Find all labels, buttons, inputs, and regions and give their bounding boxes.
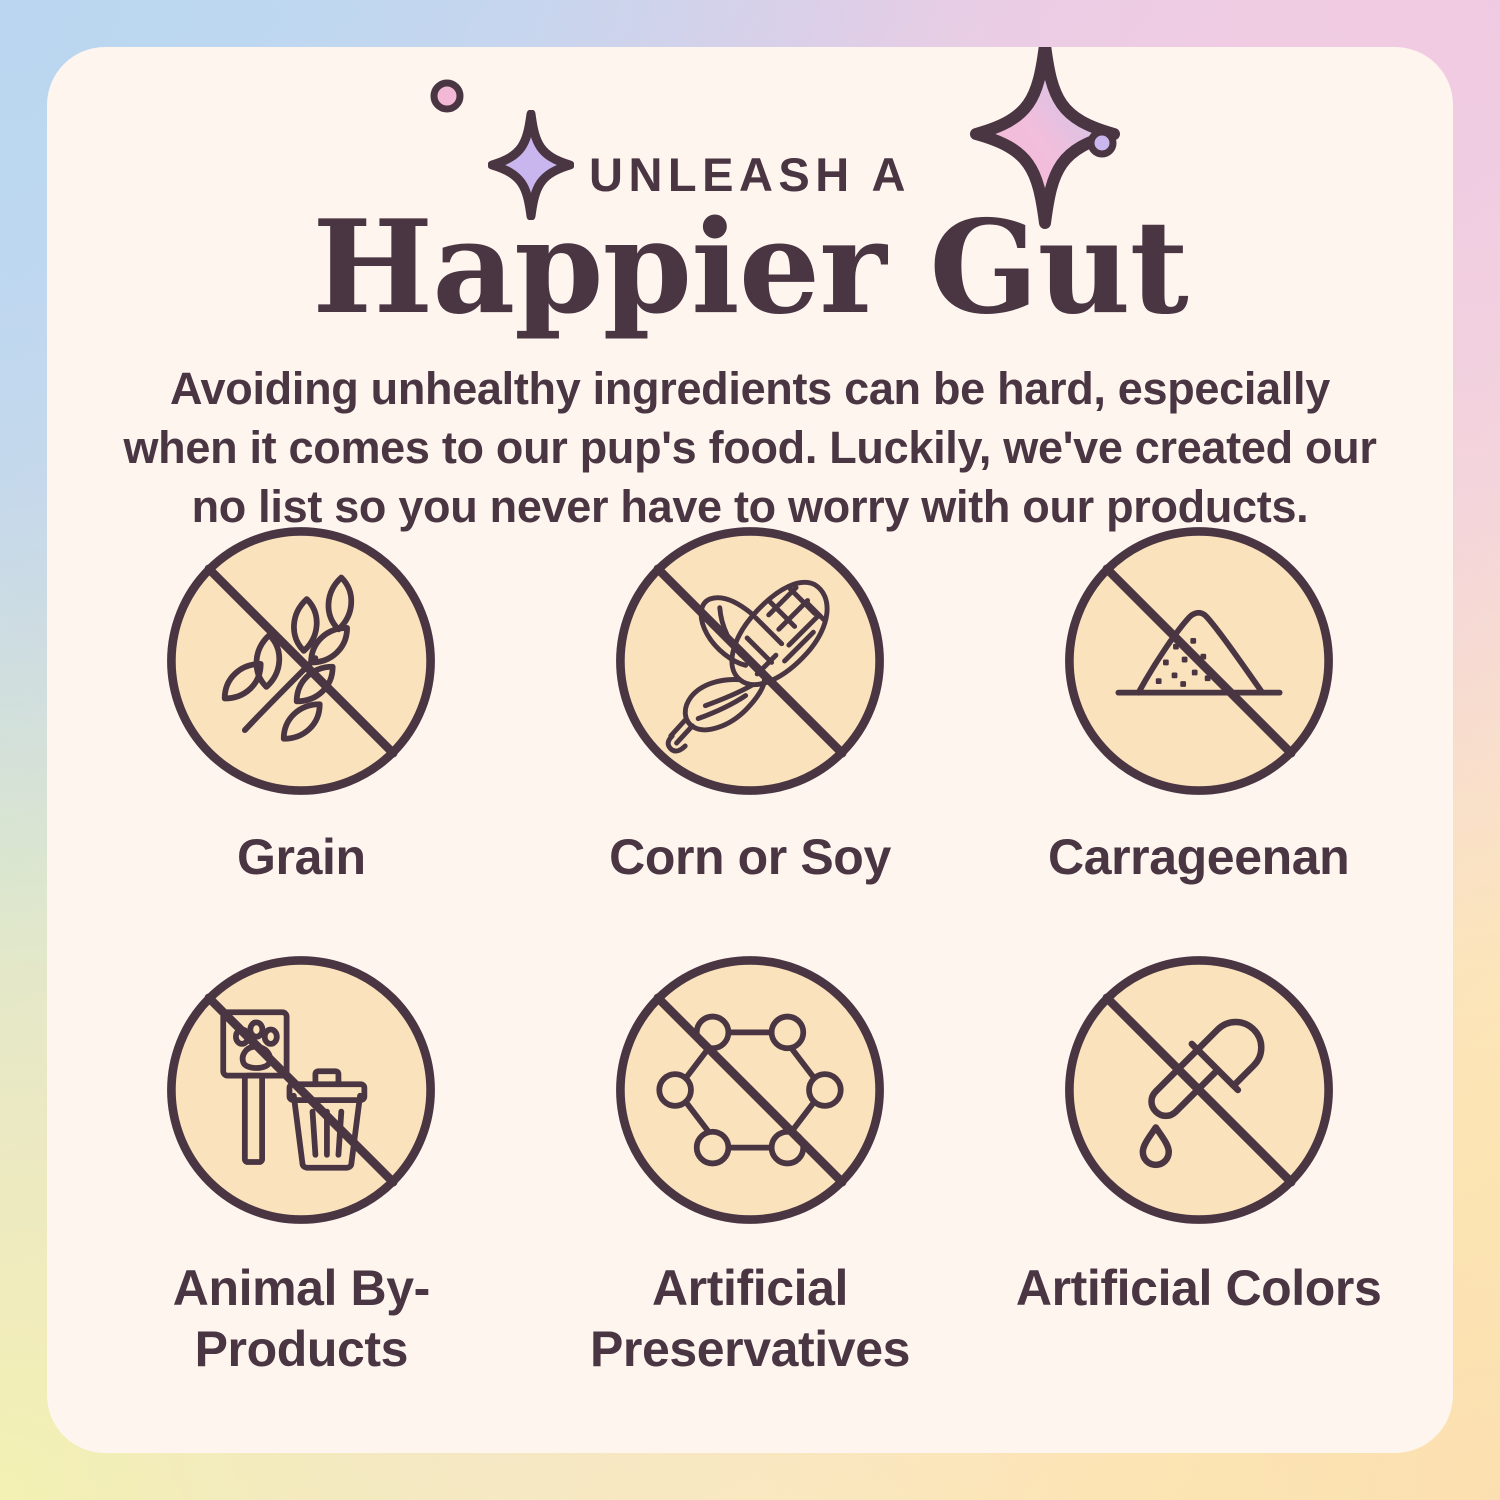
no-list-item-artificial-preservatives: Artificial Preservatives: [526, 946, 975, 1380]
poster-canvas: UNLEASH A Happier Gut Avoiding unhealthy…: [0, 0, 1500, 1500]
no-list-grid: Grain: [77, 517, 1423, 1380]
no-list-item-artificial-colors: Artificial Colors: [974, 946, 1423, 1380]
no-list-item-label: Grain: [237, 827, 366, 888]
poster-card: UNLEASH A Happier Gut Avoiding unhealthy…: [47, 47, 1453, 1453]
no-list-item-label: Animal By-Products: [91, 1258, 511, 1380]
eyedropper-drop-icon: [1055, 946, 1343, 1234]
no-list-item-label: Carrageenan: [1048, 827, 1349, 888]
dot-shape: [430, 79, 464, 113]
no-list-item-label: Corn or Soy: [609, 827, 891, 888]
paw-sign-trash-can-icon: [157, 946, 445, 1234]
no-list-item-carrageenan: Carrageenan: [974, 517, 1423, 888]
no-list-item-grain: Grain: [77, 517, 526, 888]
no-list-item-animal-by-products: Animal By-Products: [77, 946, 526, 1380]
corn-cob-icon: [606, 517, 894, 805]
wheat-stalk-icon: [157, 517, 445, 805]
no-list-item-label: Artificial Preservatives: [540, 1258, 960, 1380]
intro-paragraph: Avoiding unhealthy ingredients can be ha…: [117, 360, 1383, 537]
eyebrow-text: UNLEASH A: [47, 151, 1453, 198]
no-list-item-corn-or-soy: Corn or Soy: [526, 517, 975, 888]
molecule-hexagon-icon: [606, 946, 894, 1234]
page-title: Happier Gut: [47, 199, 1453, 337]
powder-pile-icon: [1055, 517, 1343, 805]
small-circle-dot-left: [430, 79, 464, 118]
no-list-item-label: Artificial Colors: [1016, 1258, 1382, 1319]
